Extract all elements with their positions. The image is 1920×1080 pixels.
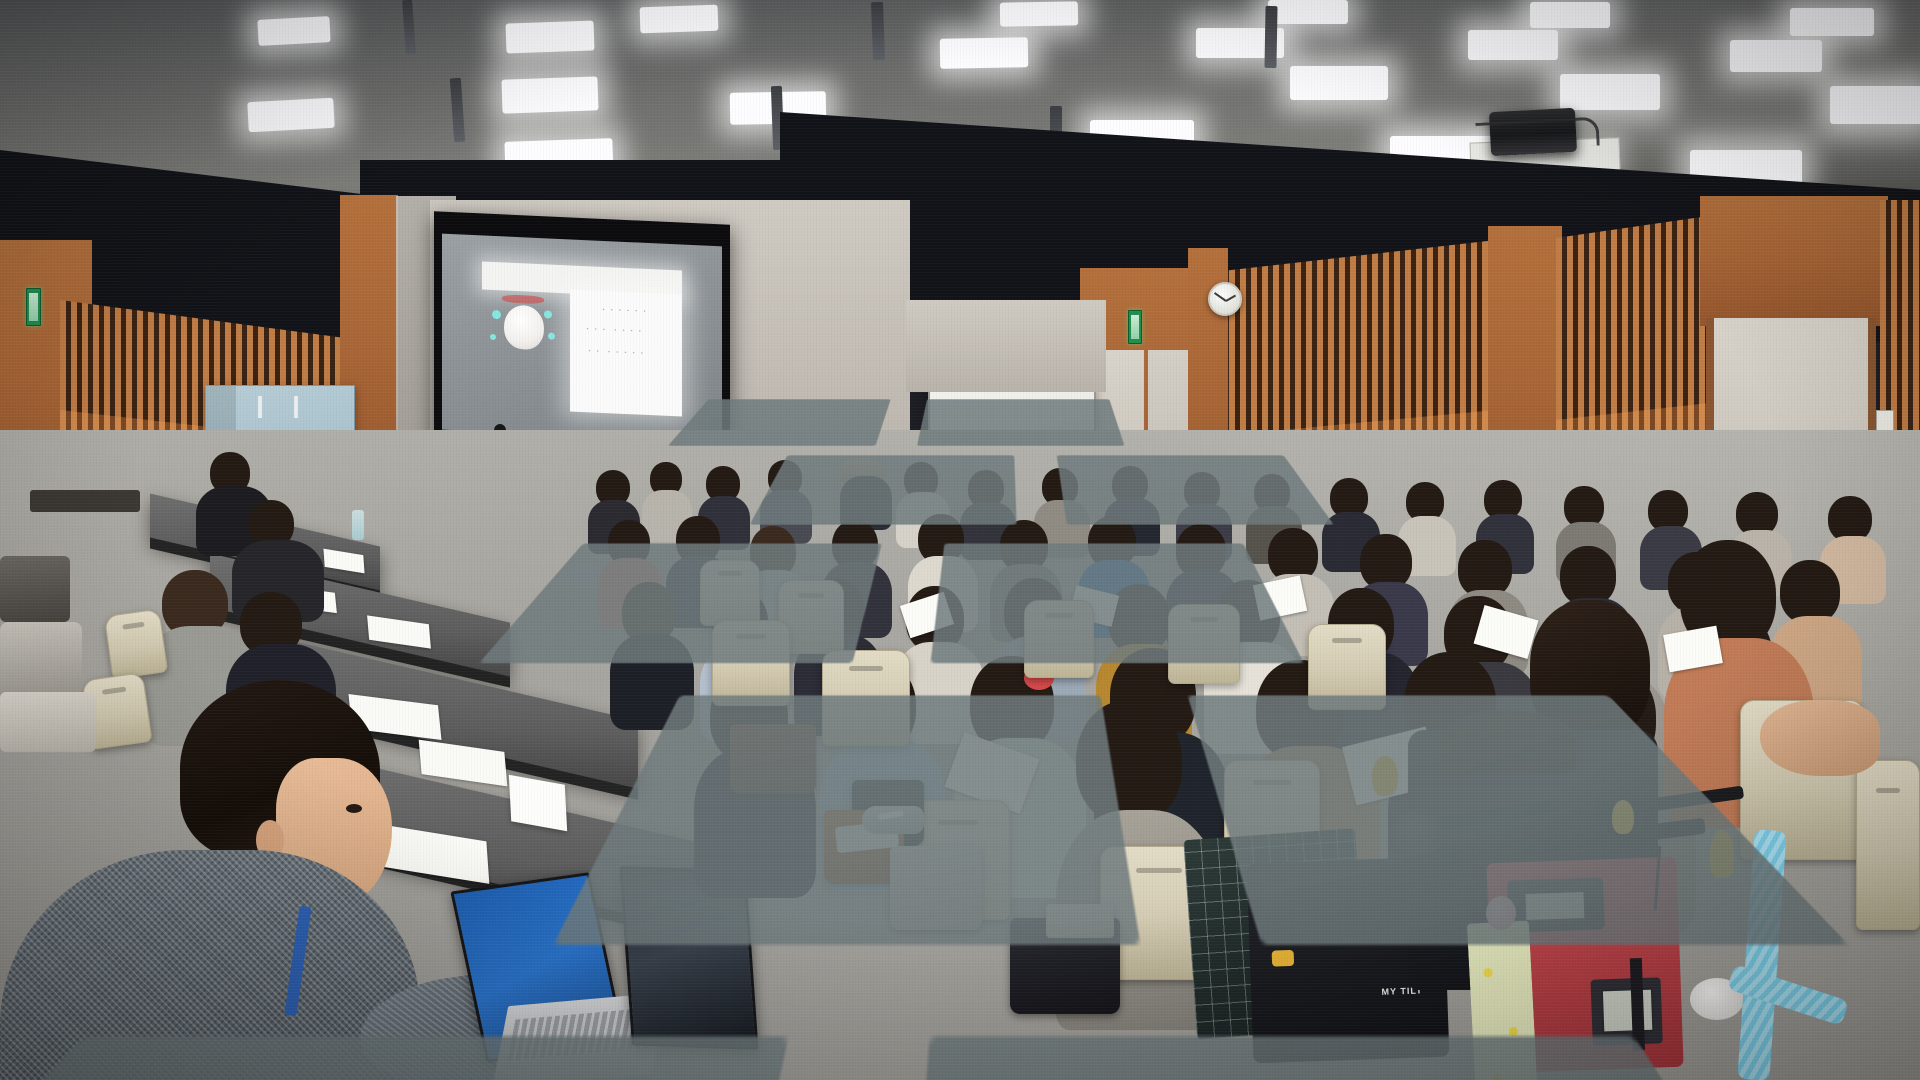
emergency-exit-sign bbox=[26, 288, 41, 326]
ceiling-light-panel bbox=[1530, 2, 1610, 28]
banquet-chair[interactable] bbox=[700, 560, 760, 626]
floral-hanging-pouch bbox=[1467, 921, 1539, 1080]
sparkle-icon bbox=[544, 310, 552, 318]
wall-clock bbox=[1208, 282, 1242, 316]
clock-hour-hand bbox=[1226, 295, 1237, 302]
pack-strap bbox=[1630, 958, 1645, 1050]
clock-minute-hand bbox=[1214, 292, 1227, 302]
ceiling-light-panel bbox=[1000, 1, 1078, 26]
blue-breathing-tube bbox=[1737, 829, 1786, 1080]
wheelchair-joint bbox=[1390, 808, 1446, 864]
equipment-case bbox=[0, 622, 82, 694]
air-diffuser-slot bbox=[1264, 6, 1277, 68]
sparkle-icon bbox=[548, 332, 555, 339]
carpet-tile bbox=[668, 399, 891, 445]
pink-charm bbox=[1486, 896, 1516, 930]
ceiling-light-panel bbox=[1468, 30, 1558, 60]
mascot-accent bbox=[502, 294, 544, 304]
emergency-exit-sign bbox=[1128, 310, 1142, 344]
equipment-display bbox=[1601, 988, 1655, 1034]
banquet-chair[interactable] bbox=[104, 608, 168, 679]
yellow-charm bbox=[1710, 830, 1734, 878]
ceiling-light-panel bbox=[1830, 86, 1920, 124]
ceiling-light-panel bbox=[640, 5, 719, 34]
seminar-room-photo: ・・・・・・ ・・・ ・・・・ ・・ ・・・・・ bbox=[0, 0, 1920, 1080]
banquet-chair[interactable] bbox=[1024, 600, 1094, 678]
audience-arm bbox=[1760, 700, 1880, 776]
banquet-chair[interactable] bbox=[822, 650, 910, 746]
wheelchair-occupant-head bbox=[1440, 710, 1576, 774]
equipment-case bbox=[0, 692, 96, 752]
handbag bbox=[730, 724, 816, 794]
paper-bag bbox=[1046, 904, 1114, 938]
slide-text-line: ・・・ ・・・・ bbox=[584, 324, 645, 337]
air-diffuser-slot bbox=[402, 0, 416, 54]
sparkle-icon bbox=[492, 310, 501, 319]
yellow-charm bbox=[1372, 756, 1398, 796]
door-header-panel bbox=[1700, 196, 1888, 326]
tote-bag bbox=[890, 846, 982, 930]
ceiling-light-panel bbox=[1268, 0, 1348, 24]
ceiling-light-panel bbox=[1290, 66, 1388, 100]
ceiling-light-panel bbox=[501, 76, 598, 113]
ceiling-light-panel bbox=[1730, 40, 1822, 72]
equipment-display bbox=[1523, 890, 1586, 922]
water-bottle bbox=[352, 510, 364, 540]
banquet-chair[interactable] bbox=[712, 620, 790, 706]
bag-charm bbox=[1272, 950, 1295, 967]
ceiling-light-panel bbox=[1790, 8, 1874, 36]
table-bracket bbox=[30, 490, 140, 512]
yellow-charm bbox=[1612, 800, 1634, 834]
banquet-chair[interactable] bbox=[1168, 604, 1240, 684]
ceiling-light-panel bbox=[1560, 74, 1660, 110]
ceiling-light-panel bbox=[257, 16, 330, 46]
projector bbox=[1489, 108, 1577, 156]
ceiling-light-panel bbox=[940, 37, 1029, 69]
sneaker bbox=[862, 806, 924, 834]
banquet-chair[interactable] bbox=[1308, 624, 1386, 710]
ceiling-light-panel bbox=[506, 20, 595, 53]
carpet-tile bbox=[917, 399, 1124, 445]
air-diffuser-slot bbox=[450, 78, 465, 143]
air-diffuser-slot bbox=[871, 2, 885, 60]
slide-text-line: ・・・・・・ bbox=[600, 305, 649, 317]
equipment-case bbox=[0, 556, 70, 622]
person-eye bbox=[346, 804, 362, 813]
ceiling-light-panel bbox=[247, 98, 334, 132]
